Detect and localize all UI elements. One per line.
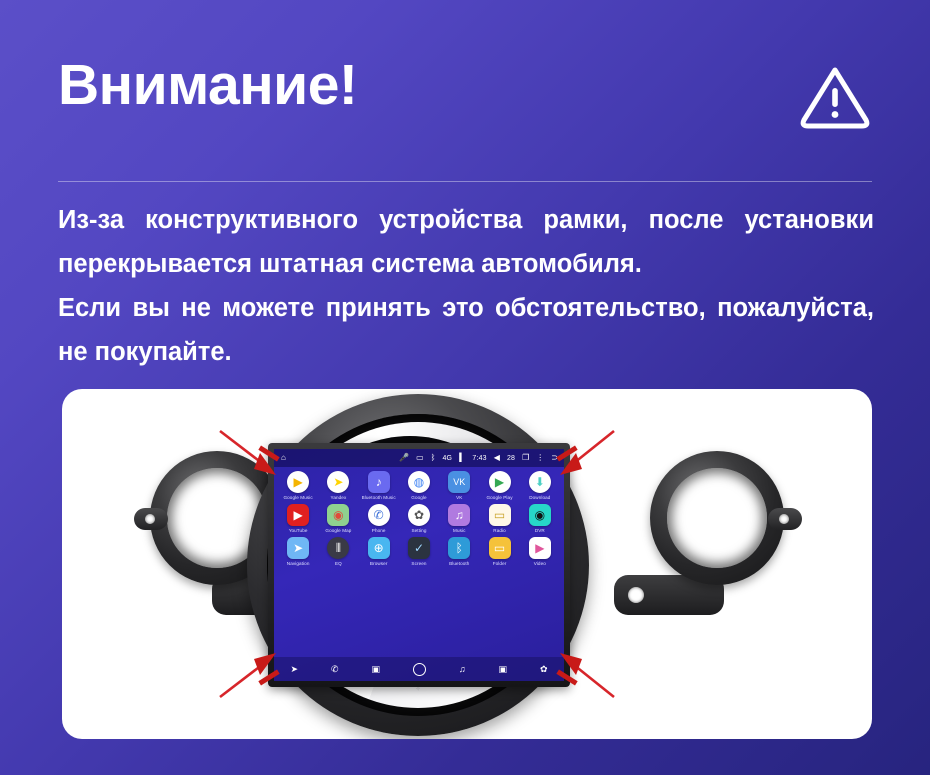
warning-line-1: Из-за конструктивного устройства рамки, … [58, 198, 874, 242]
warning-line-4: не покупайте. [58, 330, 874, 374]
slide-root: Внимание! Из-за конструктивного устройст… [0, 0, 930, 775]
car-radio-frame-assembly: ☀☁⏻☂❄↻◑✱⚘ ⌂ 🎤 ▭ ᛒ 4G ▍ 7:43 [62, 389, 872, 739]
page-title: Внимание! [58, 57, 357, 114]
callout-arrows [62, 389, 872, 739]
warning-triangle-icon [798, 62, 872, 132]
product-image-card: ☀☁⏻☂❄↻◑✱⚘ ⌂ 🎤 ▭ ᛒ 4G ▍ 7:43 [62, 389, 872, 739]
warning-line-2: перекрывается штатная система автомобиля… [58, 242, 874, 286]
warning-text-block: Из-за конструктивного устройства рамки, … [58, 198, 874, 374]
warning-line-3: Если вы не можете принять это обстоятель… [58, 286, 874, 330]
header-divider [58, 181, 872, 182]
